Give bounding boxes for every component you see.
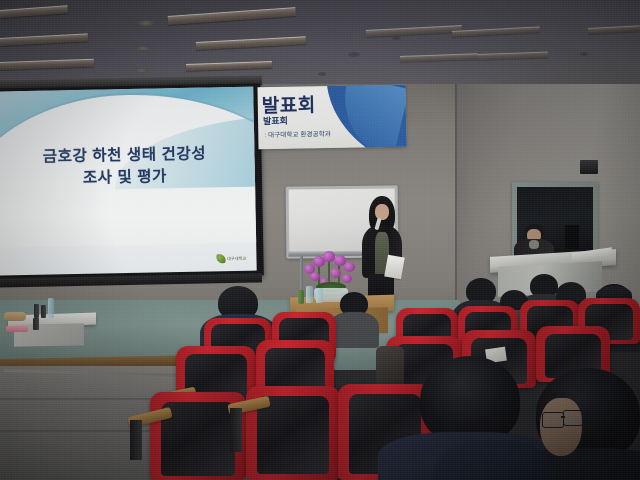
orchid-bloom <box>342 274 352 283</box>
logo-text: 대구대학교 <box>227 255 247 261</box>
ceiling-vent-icon <box>348 52 360 57</box>
audience-shoulder-foreground <box>432 440 552 480</box>
ceiling-vent-icon <box>580 52 588 56</box>
logo-mark-icon <box>216 254 225 263</box>
ceiling-vent-icon <box>318 72 326 76</box>
beverage-can <box>34 304 39 318</box>
eyeglasses-icon <box>563 410 583 426</box>
wall-speaker-icon <box>580 160 598 174</box>
seat-pad <box>257 396 329 474</box>
seat-armrest-post <box>230 408 242 452</box>
coat-on-seat <box>376 346 404 386</box>
slide-university-logo: 대구대학교 <box>216 254 247 264</box>
photograph-scene: 금호강 하천 생태 건강성 조사 및 평가 대구대학교 발표회 발표회 : 대구… <box>0 0 640 480</box>
audience-torso <box>329 312 379 348</box>
presenter <box>356 196 408 308</box>
slide-title-block: 금호강 하천 생태 건강성 조사 및 평가 <box>0 143 255 192</box>
podium-attendant-collar <box>529 240 539 249</box>
presentation-slide: 금호강 하천 생태 건강성 조사 및 평가 대구대학교 <box>0 87 257 276</box>
beverage-can <box>41 305 46 318</box>
snack-items <box>4 312 26 321</box>
eyeglasses-icon <box>542 412 564 428</box>
ceiling-downlight-icon <box>138 20 154 26</box>
seat-pad <box>161 402 235 476</box>
dark-object-in-doorway <box>565 225 579 249</box>
ceiling-downlight-icon <box>136 46 150 51</box>
presenter-papers <box>384 255 405 280</box>
ceiling-vent-icon <box>392 36 401 40</box>
banner-department: : 대구대학교 환경공학과 <box>264 128 331 139</box>
water-bottle <box>316 288 323 303</box>
beverage-can <box>33 318 39 330</box>
ceiling-downlight-icon <box>134 68 148 73</box>
orchid-bloom <box>344 262 355 272</box>
wall-corner-seam <box>455 84 457 314</box>
eyeglasses-bridge <box>561 416 565 418</box>
green-bottle <box>298 290 304 304</box>
water-bottle <box>48 298 54 318</box>
event-banner: 발표회 발표회 : 대구대학교 환경공학과 <box>257 85 406 150</box>
orchid-bloom <box>330 268 341 278</box>
audience-head <box>420 356 520 444</box>
orchid-bloom <box>310 272 320 281</box>
pink-item-on-table <box>6 326 28 332</box>
seat-armrest-post <box>130 420 142 460</box>
banner-subline: 발표회 <box>263 114 288 127</box>
projection-screen[interactable]: 금호강 하천 생태 건강성 조사 및 평가 대구대학교 <box>0 83 264 280</box>
water-bottle <box>306 286 313 303</box>
